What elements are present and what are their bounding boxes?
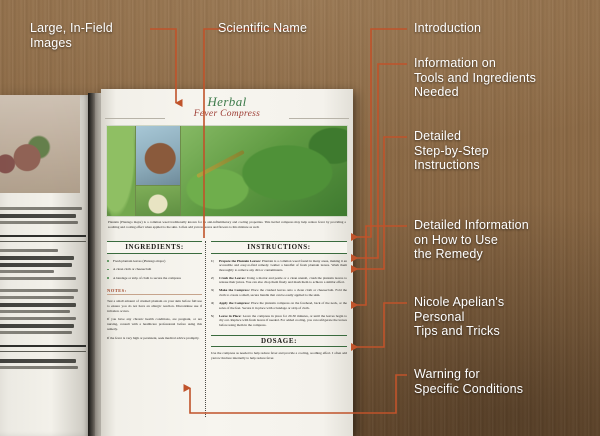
photo-jar-salve [136, 186, 180, 216]
list-item: Apply the Compress: Place the plantain c… [211, 301, 347, 310]
book-spine-shadow [88, 93, 95, 436]
recipe-title-main: Herbal [101, 95, 353, 108]
step-title: Crush the Leaves: [219, 276, 246, 280]
annotation-step-by-step: Detailed Step-by-Step Instructions [414, 129, 584, 173]
list-item: Leave in Place: Leave the compress in pl… [211, 314, 347, 328]
photo-plantain-leaves [107, 126, 135, 216]
annotation-personal-tips: Nicole Apelian's Personal Tips and Trick… [414, 295, 584, 339]
ingredients-list: Fresh plantain leaves (Plantago major) A… [107, 259, 202, 281]
notes-paragraph: If the fever is very high or persistent,… [107, 336, 202, 341]
notes-heading: NOTES: [107, 288, 202, 295]
annotation-how-to-use: Detailed Information on How to Use the R… [414, 218, 594, 262]
list-item: Crush the Leaves: Using a mortar and pes… [211, 276, 347, 285]
book-right-page: Herbal Fever Compress Plantain (Plantago… [101, 89, 353, 436]
book-left-page [0, 95, 92, 436]
annotation-large-in-field-images: Large, In-Field Images [30, 21, 155, 50]
list-item: Make the Compress: Place the crushed lea… [211, 288, 347, 297]
annotation-tools-ingredients: Information on Tools and Ingredients Nee… [414, 56, 594, 100]
photo-column-middle [136, 126, 180, 216]
open-book: Herbal Fever Compress Plantain (Plantago… [0, 95, 355, 436]
instructions-heading: INSTRUCTIONS: [211, 241, 347, 254]
photo-large-plantain-leaf [181, 126, 347, 216]
page-title-block: Herbal Fever Compress [101, 95, 353, 120]
list-item: Prepare the Plantain Leaves: Plantain is… [211, 259, 347, 273]
ingredients-heading: INGREDIENTS: [107, 241, 202, 254]
dosage-heading: DOSAGE: [211, 335, 347, 348]
intro-paragraph: Plantain (Plantago major) is a common we… [108, 220, 346, 229]
list-item: A bandage or strip of cloth to secure th… [107, 276, 202, 281]
ingredients-column: INGREDIENTS: Fresh plantain leaves (Plan… [107, 241, 202, 340]
step-title: Prepare the Plantain Leaves: [219, 259, 261, 263]
instruction-steps: Prepare the Plantain Leaves: Plantain is… [211, 259, 347, 328]
column-divider [205, 241, 206, 417]
list-item: A clean cloth or cheesecloth [107, 267, 202, 272]
step-title: Apply the Compress: [219, 301, 250, 305]
notes-paragraph: Test a small amount of crushed plantain … [107, 299, 202, 313]
annotation-scientific-name: Scientific Name [218, 21, 307, 36]
photo-mortar-bowl [136, 126, 180, 185]
step-title: Leave in Place: [219, 314, 242, 318]
notes-paragraph: If you have any chronic health condition… [107, 317, 202, 331]
dosage-paragraph: Use the compress as needed to help reduc… [211, 351, 347, 360]
title-rule-right [289, 118, 349, 119]
step-title: Make the Compress: [219, 288, 250, 292]
instructions-column: INSTRUCTIONS: Prepare the Plantain Leave… [211, 241, 347, 361]
left-page-photo [0, 95, 80, 193]
title-rule-left [105, 118, 165, 119]
plantain-photo-band [106, 125, 348, 217]
annotation-introduction: Introduction [414, 21, 481, 36]
annotation-warning: Warning for Specific Conditions [414, 367, 594, 396]
list-item: Fresh plantain leaves (Plantago major) [107, 259, 202, 264]
